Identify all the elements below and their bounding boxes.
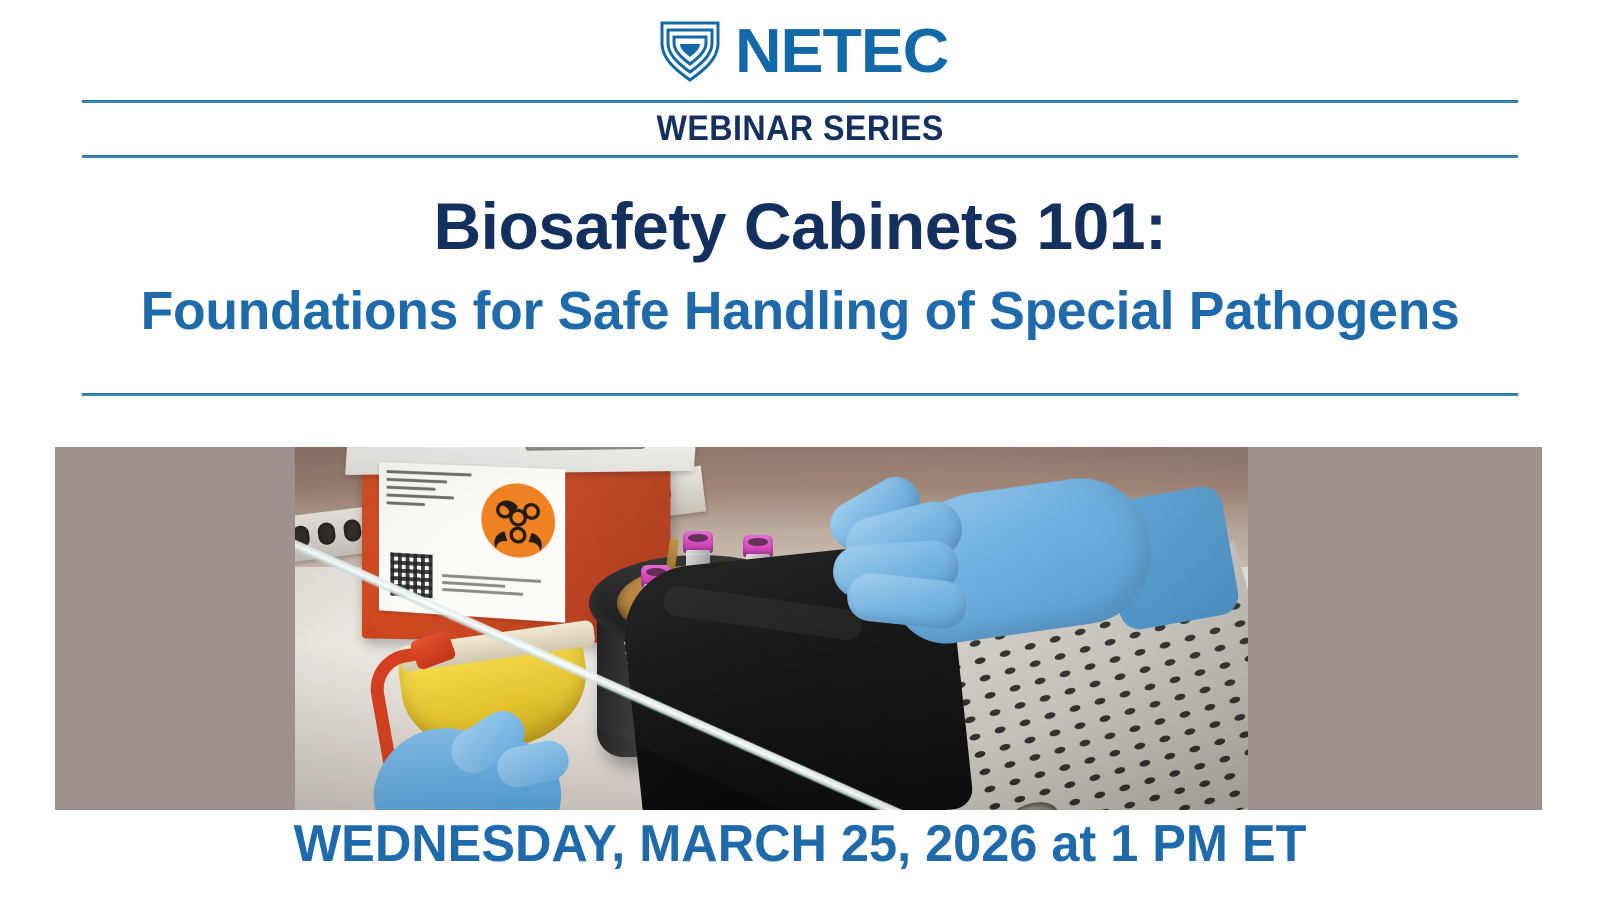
webinar-promo-poster: NETEC WEBINAR SERIES Biosafety Cabinets … — [0, 0, 1600, 900]
netec-logo: NETEC — [0, 12, 1600, 92]
divider-rule-top — [82, 100, 1518, 103]
label-qr-code — [390, 552, 432, 598]
page-title: Biosafety Cabinets 101: — [0, 192, 1600, 261]
gloved-hand-lower — [365, 718, 595, 810]
divider-rule-under-title — [82, 393, 1518, 396]
label-subtext-lines — [442, 574, 541, 601]
gloved-hand-upper — [793, 481, 1163, 711]
biohazard-label — [379, 462, 565, 623]
netec-shield-icon — [659, 19, 721, 85]
sharps-container-slot — [525, 447, 650, 451]
webinar-series-band: WEBINAR SERIES — [0, 104, 1600, 154]
divider-rule-under-series — [82, 155, 1518, 158]
hero-photo-band — [55, 447, 1542, 810]
biohazard-symbol-icon — [481, 482, 555, 560]
event-datetime: WEDNESDAY, MARCH 25, 2026 at 1 PM ET — [24, 814, 1576, 874]
hero-photo — [295, 447, 1248, 810]
label-text-lines — [387, 470, 472, 513]
webinar-series-label: WEBINAR SERIES — [656, 109, 943, 149]
page-subtitle: Foundations for Safe Handling of Special… — [8, 283, 1592, 340]
netec-wordmark: NETEC — [735, 21, 948, 83]
